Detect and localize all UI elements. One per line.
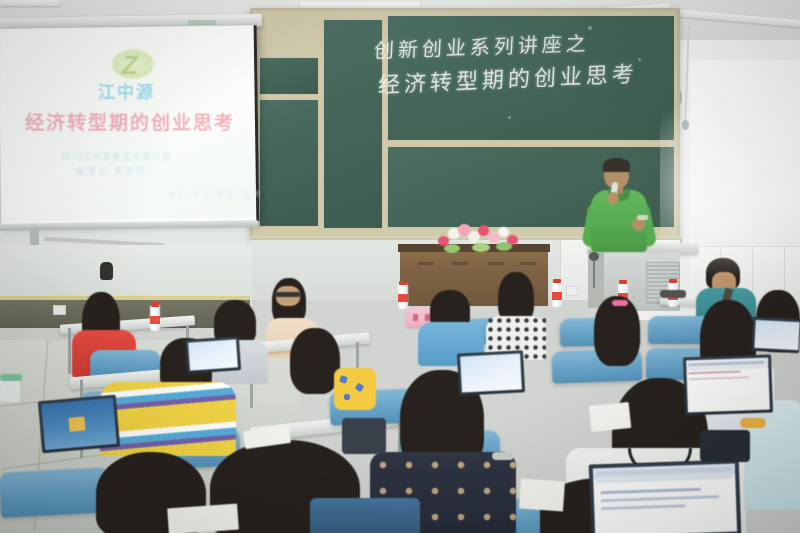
cup-lid <box>0 374 22 381</box>
bottle-cap <box>151 302 159 307</box>
slide-title: 经济转型期的创业思考 <box>25 108 235 135</box>
lecture-hall-photo: 创新创业系列讲座之 经济转型期的创业思考 Z 江中源 经济转型期的创业思考 四川… <box>0 0 800 533</box>
backpack <box>342 418 386 454</box>
handout-paper <box>589 402 631 432</box>
slide-footer-motto: 诚信 务实 进取 高效 <box>168 189 263 199</box>
laptop[interactable] <box>589 459 742 533</box>
bottle-cap <box>553 279 561 283</box>
flower-arrangement <box>434 222 520 254</box>
speaker-hair <box>603 158 630 172</box>
drink-cup[interactable] <box>0 378 20 402</box>
laptop[interactable] <box>457 350 525 395</box>
student-hair <box>290 328 340 394</box>
laptop[interactable] <box>185 336 241 374</box>
blackboard-panel <box>258 56 320 96</box>
blackboard-panel <box>258 98 320 228</box>
backpack <box>310 498 420 533</box>
speaker-hand <box>607 192 619 204</box>
handout-paper <box>167 504 239 533</box>
roller-brand-label <box>188 20 216 25</box>
window-wall <box>690 60 800 260</box>
pull-cord-knob[interactable] <box>682 120 689 130</box>
power-outlet[interactable] <box>53 305 66 315</box>
eyeglasses-icon <box>274 292 300 297</box>
wristwatch <box>637 215 648 220</box>
handout-paper <box>519 479 565 512</box>
bottle-cap <box>619 280 627 284</box>
slide-subtitle-company: 四川江中源食品有限公司 <box>62 150 172 163</box>
backpack <box>700 430 750 462</box>
laptop[interactable] <box>38 395 120 454</box>
student-hair <box>594 296 640 366</box>
list-item <box>100 382 236 456</box>
bracelet <box>492 452 514 460</box>
bracelet <box>740 418 766 428</box>
bottle-label <box>150 316 160 324</box>
lecture-chair[interactable] <box>0 467 111 518</box>
slide-logo-text: 江中源 <box>98 78 155 103</box>
wall-speaker-icon <box>100 262 113 280</box>
microphone-stand[interactable] <box>593 258 595 288</box>
bottle-label <box>398 294 408 302</box>
laptop[interactable] <box>751 317 800 353</box>
laptop[interactable] <box>683 354 773 415</box>
slide-subtitle-presenter: 董事长 黄道刚 <box>76 164 147 177</box>
eyeglasses-icon <box>660 290 686 298</box>
star-pattern <box>344 394 351 401</box>
bottle-label <box>552 292 562 300</box>
list-item <box>744 400 800 510</box>
bottle-cap <box>669 279 677 283</box>
hair-tie <box>612 300 628 306</box>
bottle-cap <box>399 281 407 285</box>
ceiling-light-strip <box>0 0 60 6</box>
microphone-icon[interactable] <box>589 252 599 261</box>
power-outlet[interactable] <box>566 286 578 296</box>
